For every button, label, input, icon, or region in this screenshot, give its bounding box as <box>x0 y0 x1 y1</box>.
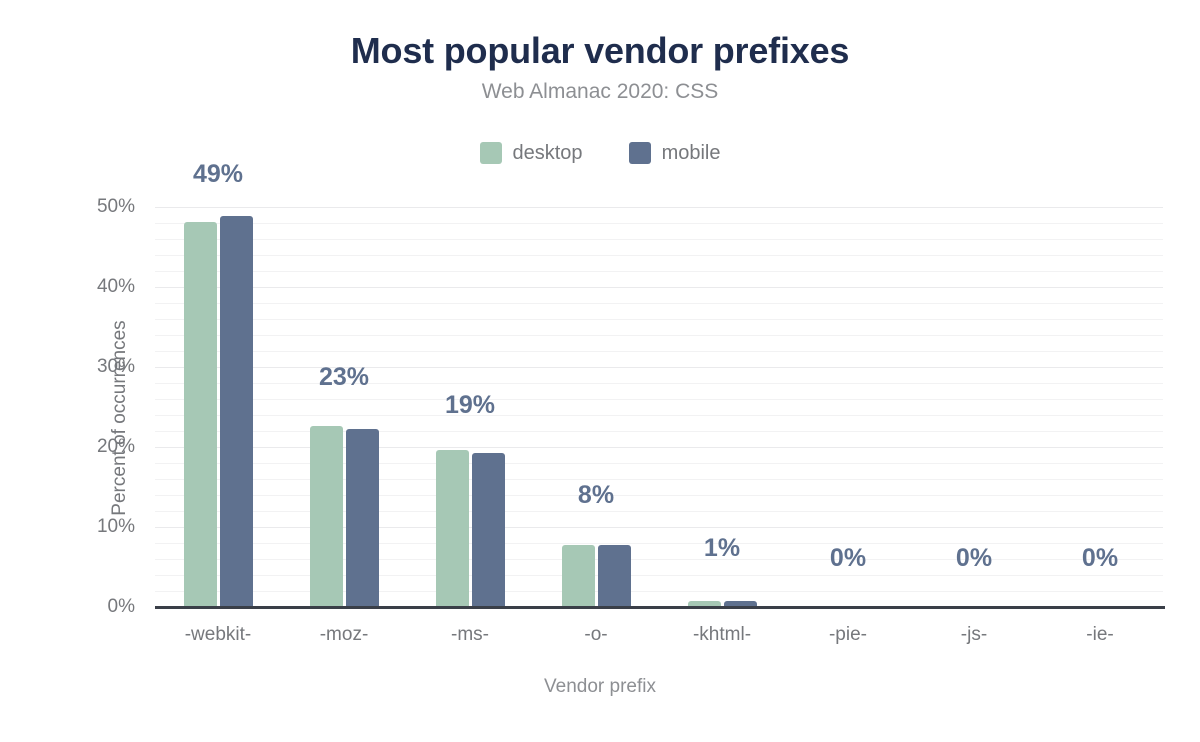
x-axis-tick-label: -js- <box>911 618 1037 652</box>
bar-group: 1% <box>659 207 785 607</box>
bar-group: 49% <box>155 207 281 607</box>
bar-group: 0% <box>785 207 911 607</box>
bar-value-label: 0% <box>911 544 1037 573</box>
x-axis-baseline <box>155 606 1165 609</box>
bar-group: 19% <box>407 207 533 607</box>
bar-mobile[interactable] <box>346 429 379 607</box>
bar-value-label: 23% <box>281 363 407 392</box>
bar-group: 23% <box>281 207 407 607</box>
x-axis-title: Vendor prefix <box>0 676 1200 698</box>
bar-desktop[interactable] <box>310 426 343 607</box>
bar-mobile[interactable] <box>220 216 253 607</box>
bar-group: 0% <box>1037 207 1163 607</box>
chart-plot: 0%10%20%30%40%50% Percent of occurrences… <box>0 0 1200 742</box>
x-axis-tick-label: -webkit- <box>155 618 281 652</box>
x-axis-tick-label: -ie- <box>1037 618 1163 652</box>
x-axis-tick-label: -pie- <box>785 618 911 652</box>
bar-desktop[interactable] <box>184 222 217 607</box>
bar-group: 8% <box>533 207 659 607</box>
x-axis-tick-label: -ms- <box>407 618 533 652</box>
x-axis-tick-label: -o- <box>533 618 659 652</box>
y-axis-tick-label: 50% <box>97 196 135 218</box>
x-axis-tick-label: -khtml- <box>659 618 785 652</box>
bar-mobile[interactable] <box>598 545 631 607</box>
bar-value-label: 49% <box>155 160 281 189</box>
bar-group: 0% <box>911 207 1037 607</box>
bar-value-label: 19% <box>407 391 533 420</box>
y-axis-tick-label: 0% <box>108 596 135 618</box>
bar-mobile[interactable] <box>472 453 505 607</box>
bars-layer: 49%23%19%8%1%0%0%0% <box>155 207 1163 607</box>
bar-value-label: 0% <box>1037 544 1163 573</box>
bar-value-label: 1% <box>659 534 785 563</box>
bar-value-label: 0% <box>785 544 911 573</box>
x-axis-tick-label: -moz- <box>281 618 407 652</box>
y-axis-title: Percent of occurrences <box>109 288 131 548</box>
bar-desktop[interactable] <box>562 545 595 607</box>
x-axis: -webkit--moz--ms--o--khtml--pie--js--ie- <box>155 618 1163 652</box>
bar-desktop[interactable] <box>436 450 469 607</box>
bar-value-label: 8% <box>533 481 659 510</box>
